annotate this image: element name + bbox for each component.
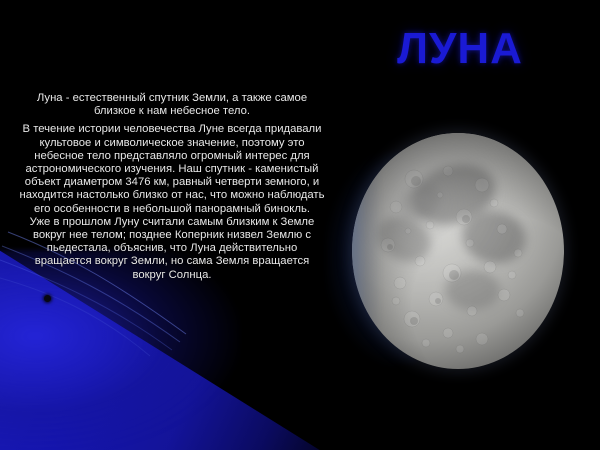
paragraph-2: В течение истории человечества Луне всег… [18, 123, 326, 215]
moon-disc [352, 133, 564, 369]
bullet-dot-marker [44, 295, 51, 302]
presentation-slide: ЛУНА Луна - естественный спутник Земли, … [0, 0, 600, 450]
slide-title: ЛУНА [330, 26, 590, 72]
paragraph-3: Уже в прошлом Луну считали самым близким… [18, 216, 326, 282]
slide-body-text: Луна - естественный спутник Земли, а так… [18, 92, 326, 282]
moon-terminator-shading [352, 133, 564, 369]
paragraph-1: Луна - естественный спутник Земли, а так… [18, 92, 326, 118]
moon-image [352, 133, 564, 369]
